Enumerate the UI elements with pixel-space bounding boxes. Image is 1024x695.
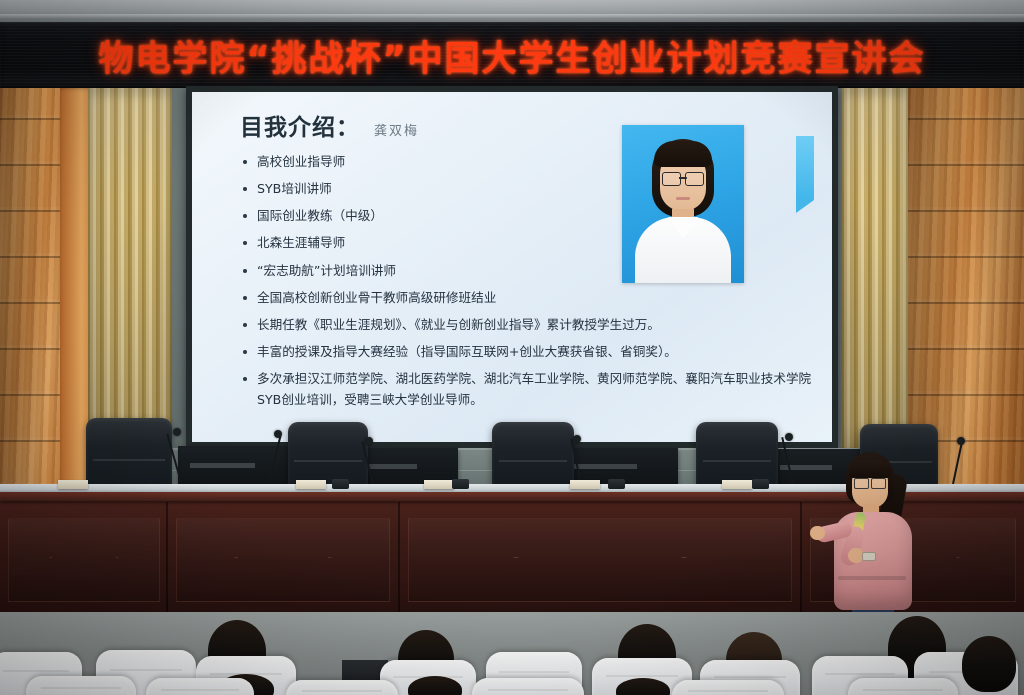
presenter-waistline (838, 576, 906, 580)
audience-seat (286, 680, 398, 695)
microphone-base (752, 479, 769, 489)
audience-seat (472, 678, 584, 695)
slide-bullet: 多次承担汉江师范学院、湖北医药学院、湖北汽车工业学院、黄冈师范学院、襄阳汽车职业… (242, 369, 814, 410)
led-banner: 物电学院“挑战杯”中国大学生创业计划竞赛宣讲会 (0, 22, 1024, 89)
presenter-id-photo (622, 125, 744, 283)
nameplate (722, 480, 752, 489)
glasses-icon (854, 478, 886, 487)
nameplate (58, 480, 88, 489)
podium-panel (176, 518, 390, 602)
slide-title: 目我介绍： (240, 108, 360, 142)
presenter-fringe (849, 460, 891, 478)
nameplate (424, 480, 454, 489)
curtain-left (88, 88, 172, 468)
slide-decoration (796, 136, 814, 200)
audience-seat (672, 680, 784, 695)
stage-chair (86, 418, 172, 488)
slide-bullet: 丰富的授课及指导大赛经验（指导国际互联网+创业大赛获省银、省铜奖）。 (242, 342, 814, 363)
audience-seat (26, 676, 136, 695)
presenter-left-hand (810, 526, 825, 540)
lecture-hall-photo: 物电学院“挑战杯”中国大学生创业计划竞赛宣讲会 目我介绍： 龚双梅 高校创业指导… (0, 0, 1024, 695)
projection-screen-frame: 目我介绍： 龚双梅 高校创业指导师 SYB培训讲师 国际创业教练（中级） 北森生… (186, 86, 838, 448)
led-banner-text: 物电学院“挑战杯”中国大学生创业计划竞赛宣讲会 (0, 30, 1024, 81)
microphone (372, 440, 384, 484)
slide-bullet: 长期任教《职业生涯规划》、《就业与创新创业指导》累计教授学生过万。 (242, 315, 814, 336)
slide-bullet: 全国高校创新创业骨干教师高级研修班结业 (242, 288, 814, 309)
presenter-wristwatch (862, 552, 876, 561)
stage-chair (492, 422, 574, 488)
microphone (180, 432, 192, 482)
podium-panel (8, 518, 160, 602)
projection-screen: 目我介绍： 龚双梅 高校创业指导师 SYB培训讲师 国际创业教练（中级） 北森生… (192, 92, 832, 442)
curtain-right (842, 88, 908, 468)
podium-panel (408, 518, 792, 602)
podium-seam (166, 502, 168, 614)
ceiling (0, 0, 1024, 24)
audience-head (962, 636, 1016, 692)
podium-seam (398, 502, 400, 614)
stage-chair (288, 422, 368, 488)
photo-fringe (654, 141, 712, 167)
microphone-base (452, 479, 469, 489)
microphone-base (608, 479, 625, 489)
audience-seat (146, 678, 254, 695)
microphone-base (332, 479, 349, 489)
photo-mouth (676, 197, 690, 200)
presentation-slide: 目我介绍： 龚双梅 高校创业指导师 SYB培训讲师 国际创业教练（中级） 北森生… (192, 92, 832, 442)
podium-seam (800, 502, 802, 614)
microphone (952, 440, 964, 484)
microphone (268, 434, 280, 482)
nameplate (570, 480, 600, 489)
audience-seat (848, 678, 958, 695)
slide-presenter-name: 龚双梅 (374, 120, 419, 139)
nameplate (296, 480, 326, 489)
photo-glasses-icon (662, 172, 704, 184)
microphone (792, 436, 804, 484)
microphone (580, 438, 592, 484)
